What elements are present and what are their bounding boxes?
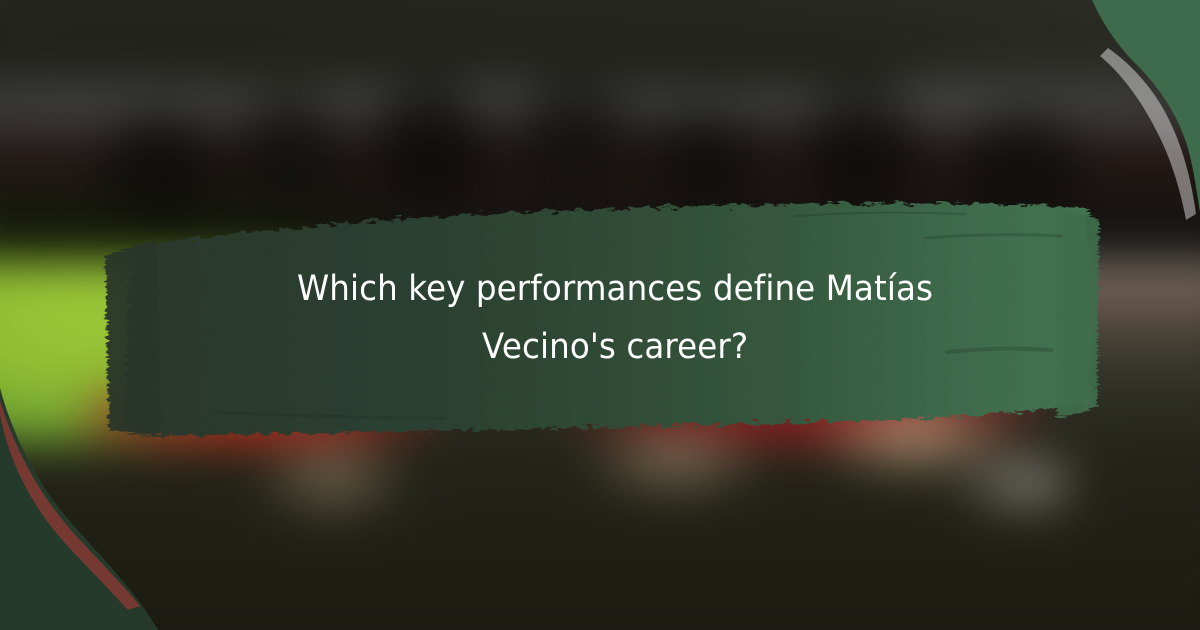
headline-banner: Which key performances define Matías Vec… xyxy=(95,190,1105,445)
headline-line-2: Vecino's career? xyxy=(482,318,748,376)
headline-text-block: Which key performances define Matías Vec… xyxy=(95,190,1105,445)
headline-line-1: Which key performances define Matías xyxy=(297,260,933,318)
social-share-card: Which key performances define Matías Vec… xyxy=(0,0,1200,630)
